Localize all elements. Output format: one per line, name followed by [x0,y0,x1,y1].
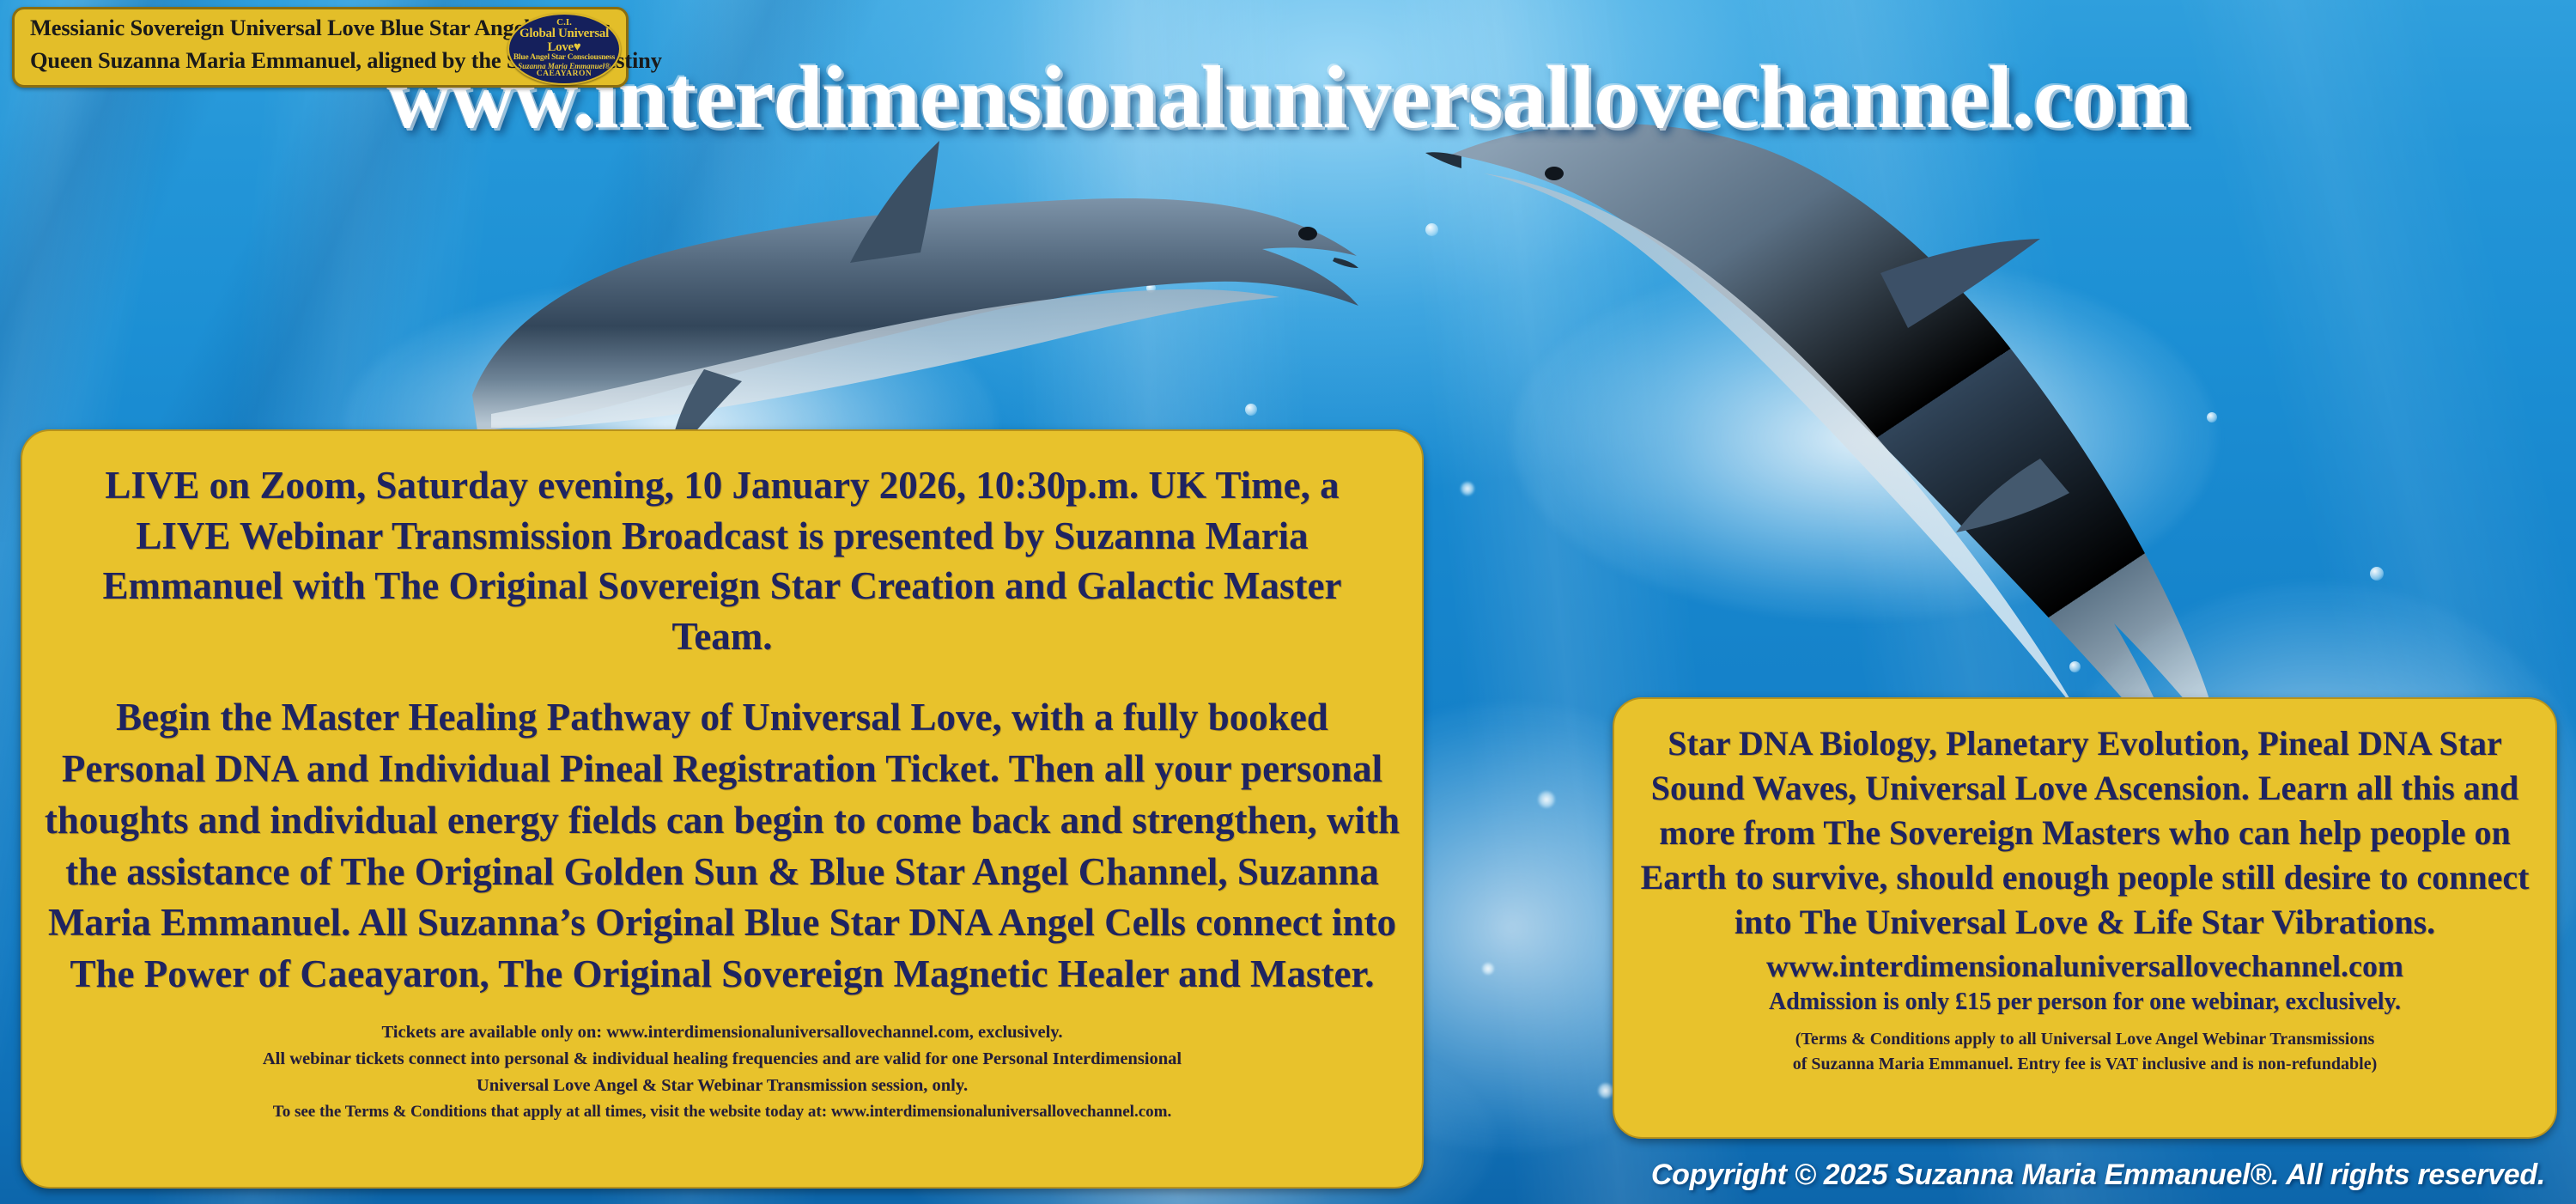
main-info-card: LIVE on Zoom, Saturday evening, 10 Janua… [21,429,1424,1189]
heart-icon: ♥ [574,40,581,54]
fineprint-line-2: All webinar tickets connect into persona… [48,1046,1396,1073]
foam-speck [1597,1082,1614,1099]
dolphin-left [447,112,1443,472]
foam-speck [1481,962,1495,976]
copyright-notice: Copyright © 2025 Suzanna Maria Emmanuel®… [1651,1158,2545,1192]
terms-line-1: (Terms & Conditions apply to all Univers… [1626,1027,2543,1051]
terms-line-2: of Suzanna Maria Emmanuel. Entry fee is … [1626,1052,2543,1076]
title-banner: Messianic Sovereign Universal Love Blue … [12,7,629,88]
left-card-fineprint: Tickets are available only on: www.inter… [48,1019,1396,1124]
topics-card-url: www.interdimensionaluniversallovechannel… [1623,948,2547,985]
foam-speck [1537,790,1556,809]
fineprint-line-3: Universal Love Angel & Star Webinar Tran… [48,1073,1396,1099]
healing-pathway-paragraph: Begin the Master Healing Pathway of Univ… [43,692,1401,1000]
topics-paragraph: Star DNA Biology, Planetary Evolution, P… [1628,721,2542,945]
seal-title-text: Global Universal Love [519,27,609,53]
admission-price: Admission is only £15 per person for one… [1623,987,2547,1017]
webinar-details-paragraph: LIVE on Zoom, Saturday evening, 10 Janua… [57,460,1388,661]
topics-card: Star DNA Biology, Planetary Evolution, P… [1613,697,2557,1139]
fineprint-line-1: Tickets are available only on: www.inter… [48,1019,1396,1046]
fineprint-line-4: To see the Terms & Conditions that apply… [48,1100,1396,1125]
promo-poster: Messianic Sovereign Universal Love Blue … [0,0,2576,1204]
terms-and-conditions: (Terms & Conditions apply to all Univers… [1626,1027,2543,1076]
seal-line-5: CAEAYARON [509,70,619,79]
seal-line-2: Global Universal Love♥ [509,27,619,54]
caeayaron-seal-badge: C.I. Global Universal Love♥ Blue Angel S… [507,13,621,85]
